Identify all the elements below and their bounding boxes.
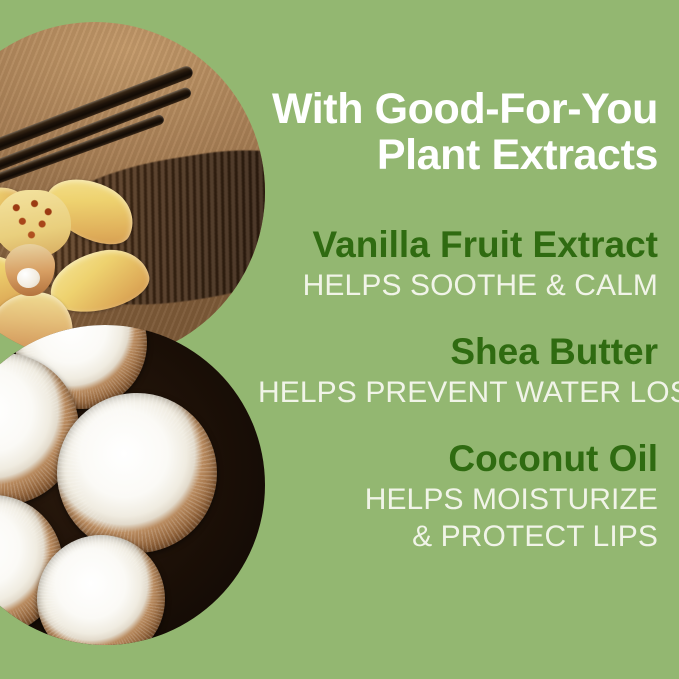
headline-line-2: Plant Extracts xyxy=(258,132,658,178)
ingredient-benefit-shea: HELPS PREVENT WATER LOSS xyxy=(258,376,658,410)
copy-column: With Good-For-You Plant Extracts Vanilla… xyxy=(258,86,658,553)
ingredient-benefit-vanilla: HELPS SOOTHE & CALM xyxy=(258,269,658,303)
headline-line-1: With Good-For-You xyxy=(258,86,658,132)
ingredient-block-coconut: Coconut Oil HELPS MOISTURIZE & PROTECT L… xyxy=(258,439,658,553)
vanilla-photo-circle xyxy=(0,22,265,362)
ingredient-block-shea: Shea Butter HELPS PREVENT WATER LOSS xyxy=(258,332,658,409)
ingredient-benefit-coconut-line-1: HELPS MOISTURIZE xyxy=(258,483,658,517)
ingredient-benefit-coconut-line-2: & PROTECT LIPS xyxy=(258,520,658,554)
infographic-canvas: With Good-For-You Plant Extracts Vanilla… xyxy=(0,0,679,679)
ingredient-name-vanilla: Vanilla Fruit Extract xyxy=(258,225,658,266)
coconut-half xyxy=(57,393,217,553)
orchid-anther xyxy=(17,268,40,288)
ingredient-name-coconut: Coconut Oil xyxy=(258,439,658,480)
ingredient-block-vanilla: Vanilla Fruit Extract HELPS SOOTHE & CAL… xyxy=(258,225,658,302)
ingredient-name-shea: Shea Butter xyxy=(258,332,658,373)
coconut-photo-circle xyxy=(0,325,265,645)
